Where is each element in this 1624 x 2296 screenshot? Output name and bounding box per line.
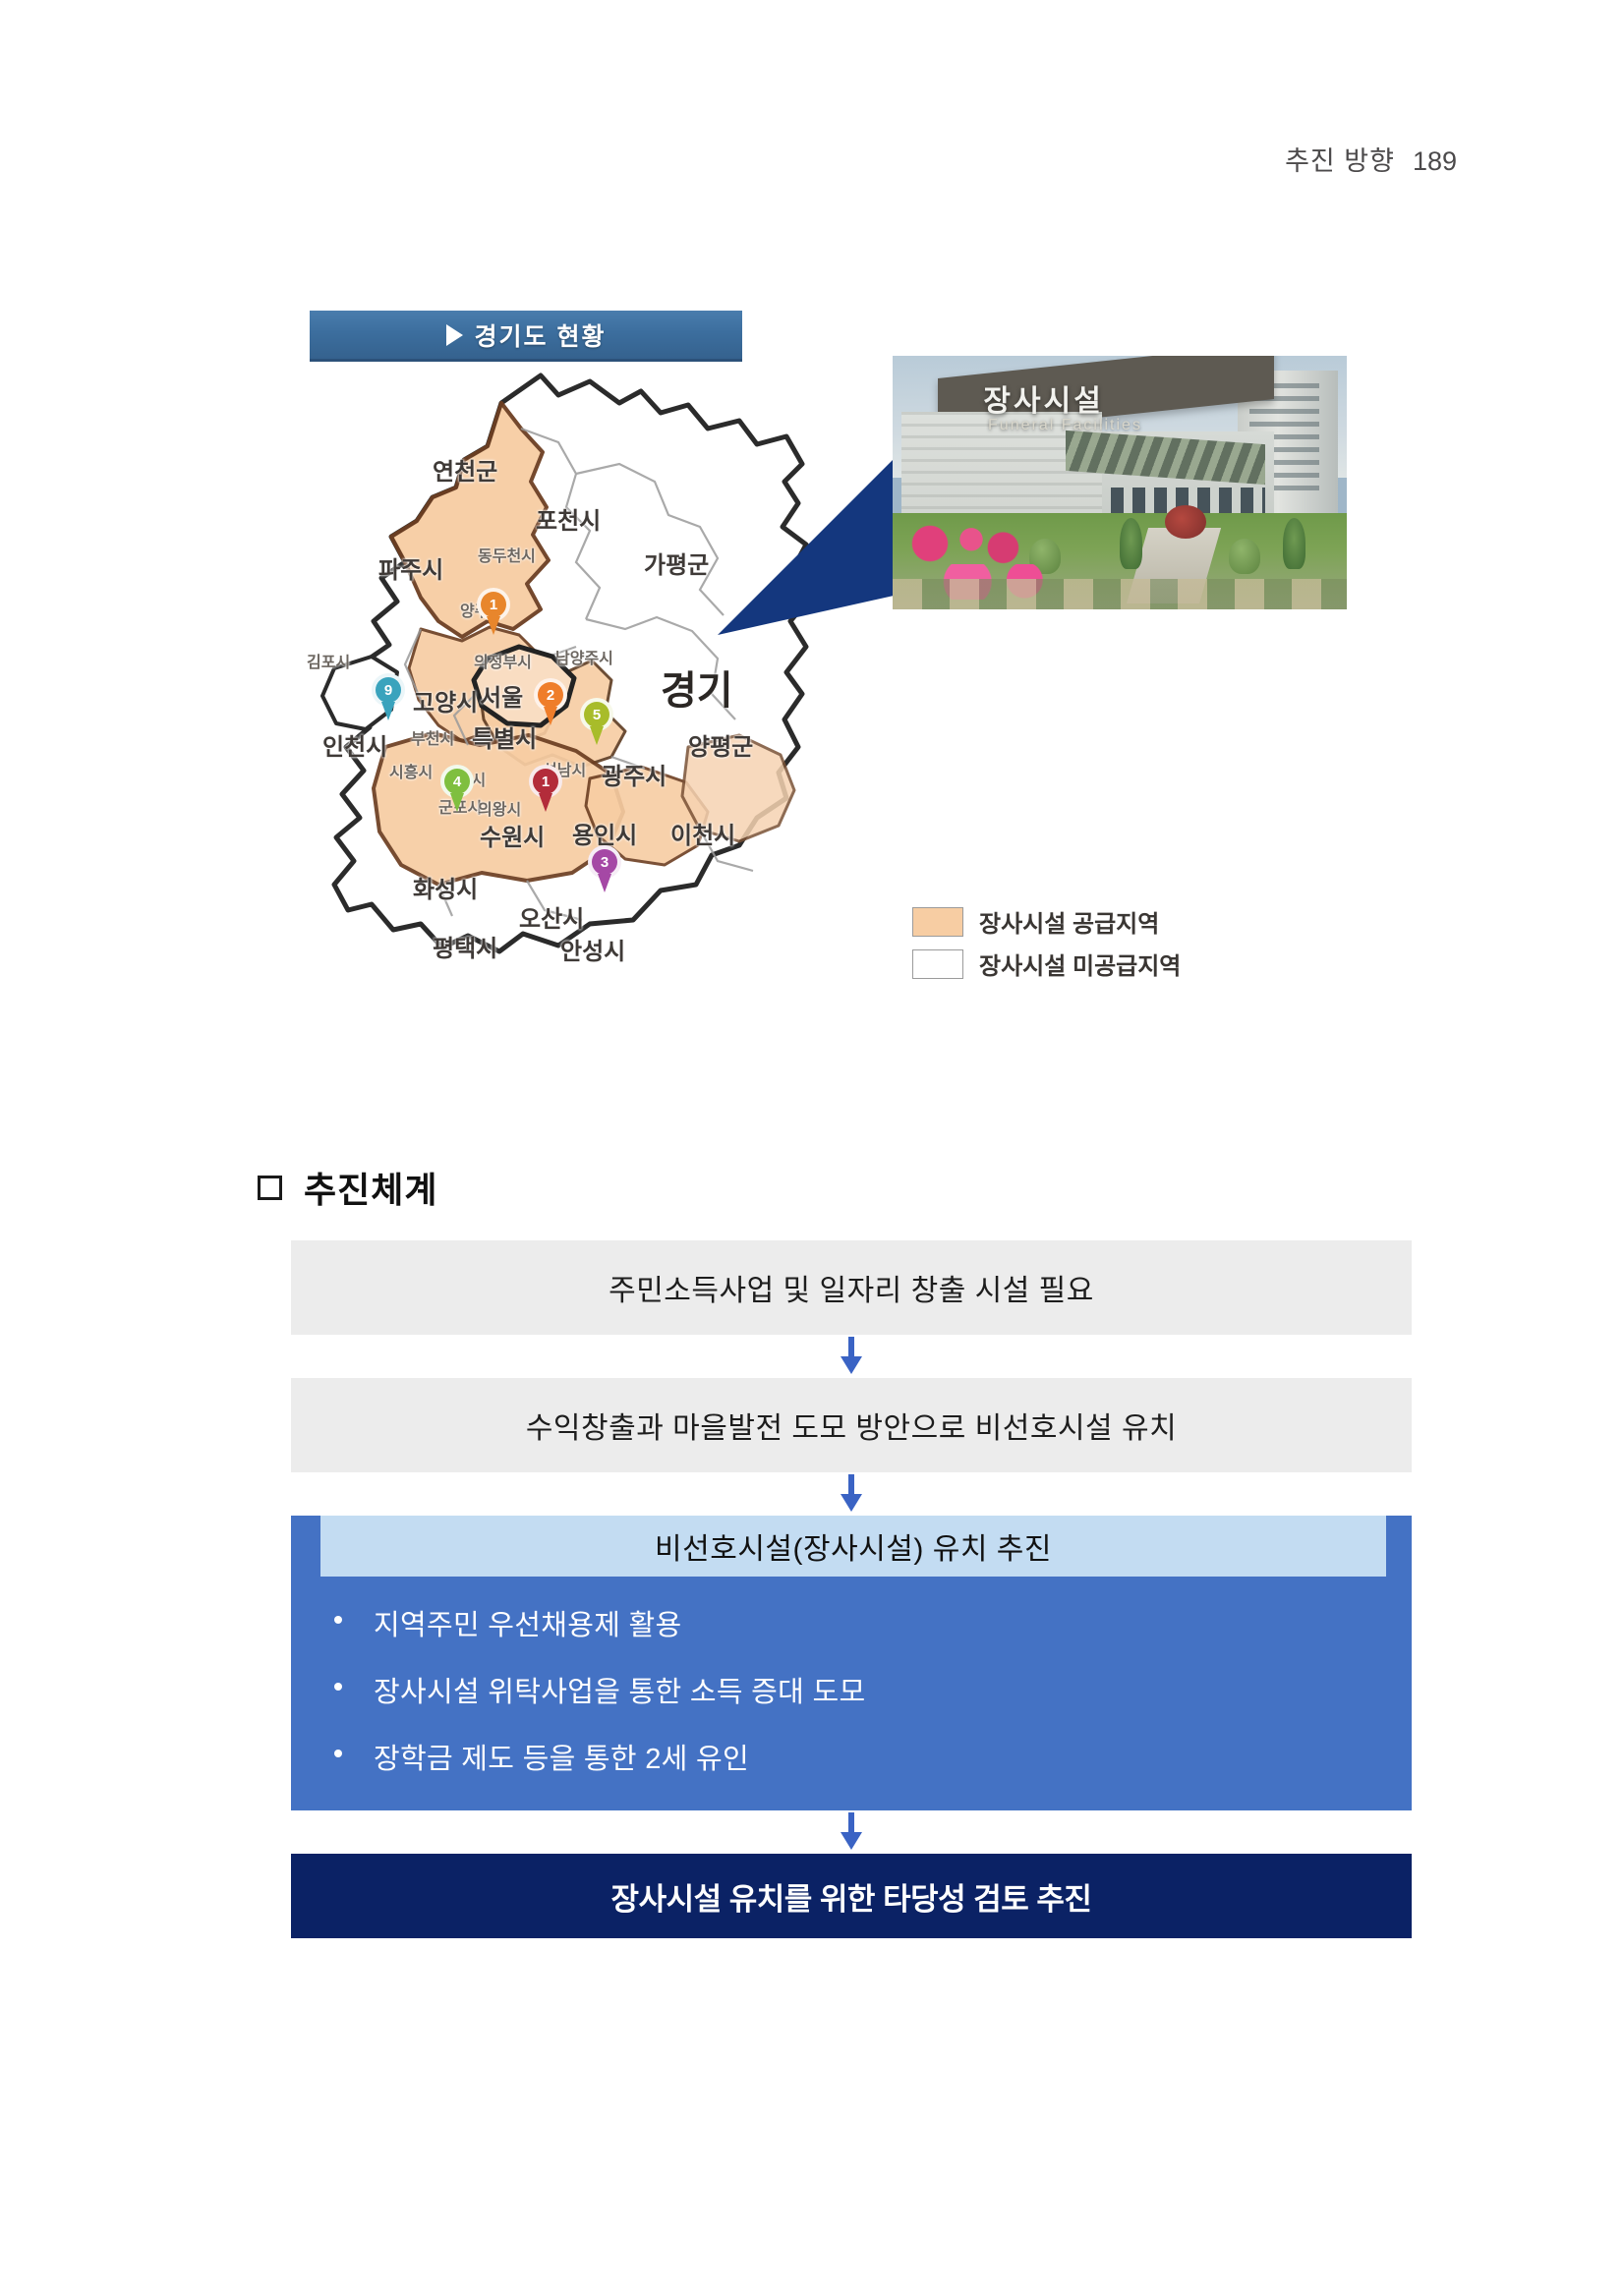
list-item: 장사시설 위탁사업을 통한 소득 증대 도모	[374, 1669, 1412, 1710]
map-label: 파주시	[378, 550, 443, 585]
legend-row: 장사시설 공급지역	[912, 904, 1227, 939]
map-pin: 5	[580, 698, 613, 743]
map-label: 수원시	[480, 818, 545, 852]
map-label: 오산시	[519, 899, 584, 934]
map-label: 부천시	[411, 725, 454, 749]
photo-tree	[1120, 518, 1142, 569]
province-label: 경기	[661, 659, 733, 716]
bullet-label: 장학금 제도 등을 통한 2세 유인	[374, 1744, 749, 1775]
flow-step-3-bullets: 지역주민 우선채용제 활용 장사시설 위탁사업을 통한 소득 증대 도모 장학금…	[291, 1602, 1412, 1777]
map-label: 고양시	[413, 683, 478, 717]
gyeonggi-map: 연천군 포천시 파주시 가평군 동두천시 양주시 의정부시 남양주시 김포시 고…	[295, 334, 983, 963]
arrow-shaft	[848, 1337, 854, 1358]
bullet-label: 지역주민 우선채용제 활용	[374, 1610, 682, 1641]
photo-tree	[1283, 518, 1305, 569]
map-pin: 9	[372, 673, 405, 718]
running-header-title: 추진 방향	[1285, 146, 1395, 176]
map-label: 안성시	[560, 932, 625, 966]
photo-red-shrub	[1165, 505, 1206, 539]
funeral-facility-photo: 장사시설 Funeral Facilities	[893, 356, 1347, 609]
map-pin-tail	[598, 874, 611, 892]
list-item: 장학금 제도 등을 통한 2세 유인	[374, 1736, 1412, 1777]
legend-swatch-unsupplied	[912, 949, 963, 979]
map-label: 가평군	[644, 545, 709, 580]
promotion-system-flowchart: 주민소득사업 및 일자리 창출 시설 필요 수익창출과 마을발전 도모 방안으로…	[291, 1240, 1412, 1938]
bullet-dot-icon	[334, 1683, 342, 1691]
map-label: 특별시	[472, 719, 537, 754]
flow-step-3: 비선호시설(장사시설) 유치 추진 지역주민 우선채용제 활용 장사시설 위탁사…	[291, 1516, 1412, 1810]
map-label: 연천군	[433, 452, 497, 487]
map-legend: 장사시설 공급지역 장사시설 미공급지역	[912, 904, 1227, 989]
flow-step-label: 장사시설 유치를 위한 타당성 검토 추진	[611, 1874, 1092, 1919]
flow-arrow	[291, 1335, 1412, 1378]
bullet-dot-icon	[334, 1750, 342, 1757]
legend-row: 장사시설 미공급지역	[912, 947, 1227, 981]
map-pin-tail	[450, 793, 464, 812]
map-label: 의왕시	[478, 796, 521, 820]
photo-flowers	[906, 523, 1024, 563]
flow-step-label: 주민소득사업 및 일자리 창출 시설 필요	[609, 1266, 1094, 1309]
flow-step-label: 수익창출과 마을발전 도모 방안으로 비선호시설 유치	[526, 1404, 1177, 1447]
section-heading: 추진체계	[258, 1162, 437, 1213]
legend-label: 장사시설 공급지역	[979, 904, 1159, 939]
page-number: 189	[1413, 146, 1457, 176]
map-label: 인천시	[322, 727, 387, 762]
map-pin: 4	[440, 765, 474, 810]
photo-caption-sub: Funeral Facilities	[988, 417, 1142, 434]
flow-step-1: 주민소득사업 및 일자리 창출 시설 필요	[291, 1240, 1412, 1335]
map-pin-tail	[381, 702, 395, 720]
flow-arrow	[291, 1810, 1412, 1854]
square-bullet-icon	[258, 1176, 282, 1200]
map-label: 양평군	[688, 727, 753, 762]
list-item: 지역주민 우선채용제 활용	[374, 1602, 1412, 1643]
flow-arrow	[291, 1472, 1412, 1516]
flow-step-2: 수익창출과 마을발전 도모 방안으로 비선호시설 유치	[291, 1378, 1412, 1472]
map-label: 의정부시	[474, 649, 532, 672]
map-pin-tail	[539, 793, 552, 812]
photo-caption-main: 장사시설	[983, 376, 1103, 420]
gyeonggi-status-figure: 경기도 현황	[295, 295, 1357, 1042]
arrow-shaft	[848, 1474, 854, 1496]
photo-grave-row	[893, 579, 1347, 609]
arrow-head	[841, 1832, 862, 1850]
flow-step-4: 장사시설 유치를 위한 타당성 검토 추진	[291, 1854, 1412, 1938]
map-pin-tail	[590, 726, 604, 745]
map-label: 시흥시	[389, 759, 433, 782]
map-pin-tail	[544, 707, 557, 725]
arrow-shaft	[848, 1812, 854, 1834]
map-pin: 1	[529, 765, 562, 810]
photo-shrub	[1229, 539, 1260, 574]
map-label: 서울	[480, 678, 523, 713]
legend-label: 장사시설 미공급지역	[979, 947, 1181, 981]
map-pin-tail	[487, 616, 500, 635]
legend-swatch-supplied	[912, 907, 963, 937]
map-label: 동두천시	[478, 543, 536, 566]
map-label: 포천시	[536, 501, 601, 536]
map-pin: 3	[588, 845, 621, 890]
flow-step-label: 비선호시설(장사시설) 유치 추진	[655, 1524, 1052, 1568]
bullet-dot-icon	[334, 1616, 342, 1624]
flow-step-3-header: 비선호시설(장사시설) 유치 추진	[320, 1516, 1386, 1577]
map-svg	[295, 334, 983, 963]
map-label: 김포시	[307, 649, 350, 672]
map-label: 이천시	[670, 816, 735, 850]
map-label: 화성시	[413, 870, 478, 904]
map-label: 광주시	[602, 757, 667, 791]
arrow-head	[841, 1356, 862, 1374]
map-pin: 1	[477, 588, 510, 633]
section-heading-label: 추진체계	[304, 1162, 437, 1213]
map-pin: 2	[534, 678, 567, 723]
running-header: 추진 방향189	[1285, 140, 1457, 178]
document-page: 추진 방향189 경기도 현황	[0, 0, 1624, 2296]
map-label: 평택시	[433, 929, 497, 963]
arrow-head	[841, 1494, 862, 1512]
bullet-label: 장사시설 위탁사업을 통한 소득 증대 도모	[374, 1677, 865, 1708]
map-label: 남양주시	[555, 645, 613, 668]
